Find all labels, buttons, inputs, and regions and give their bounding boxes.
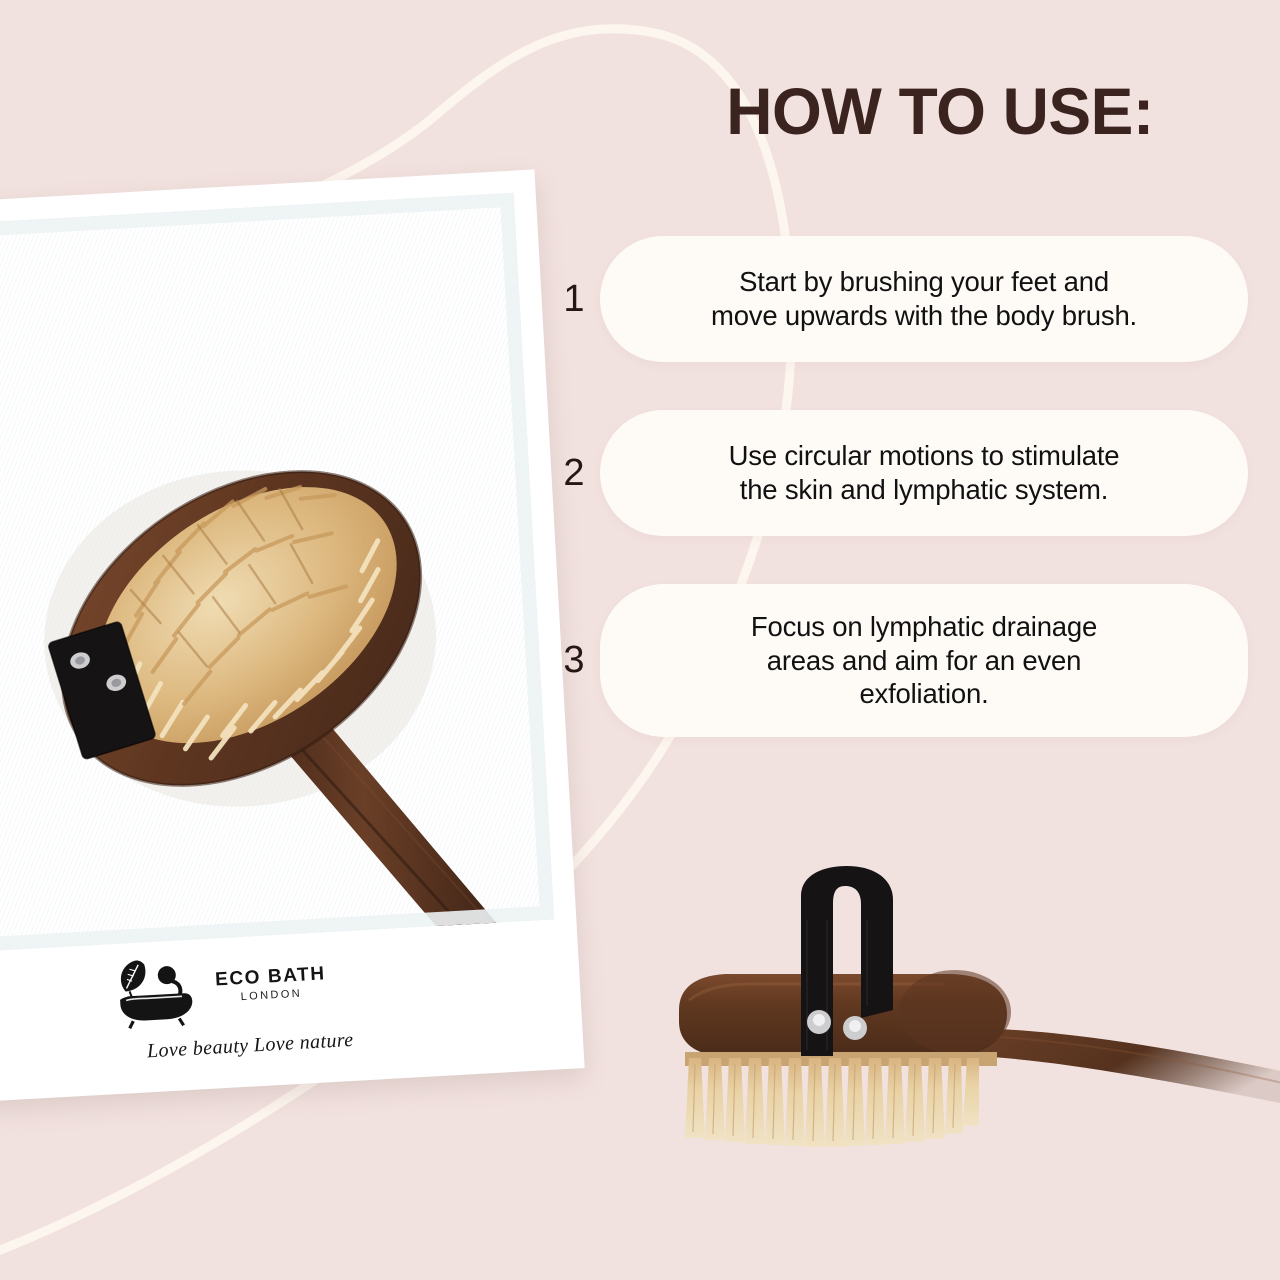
step-card[interactable]: Use circular motions to stimulate the sk… <box>600 410 1248 536</box>
list-item: 3 Focus on lymphatic drainage areas and … <box>548 584 1248 737</box>
step-text: Focus on lymphatic drainage areas and ai… <box>751 610 1097 711</box>
step-line: Use circular motions to stimulate <box>729 439 1120 473</box>
step-number: 2 <box>548 454 600 492</box>
steps-list: 1 Start by brushing your feet and move u… <box>548 236 1248 785</box>
list-item: 2 Use circular motions to stimulate the … <box>548 410 1248 536</box>
brand-name: ECO BATH <box>215 964 327 989</box>
step-text: Use circular motions to stimulate the sk… <box>729 439 1120 506</box>
infographic-canvas: ECO BATH LONDON Love beauty Love nature … <box>0 0 1280 1280</box>
step-line: move upwards with the body brush. <box>711 299 1137 333</box>
step-line: exfoliation. <box>751 677 1097 711</box>
step-line: areas and aim for an even <box>751 644 1097 678</box>
photo-inner-edge <box>0 193 554 952</box>
body-brush-side-image <box>655 860 1280 1200</box>
step-line: Focus on lymphatic drainage <box>751 610 1097 644</box>
brand-logo: ECO BATH LONDON Love beauty Love nature <box>108 937 454 1076</box>
polaroid-photo <box>0 193 554 952</box>
bathtub-leaf-icon <box>108 951 208 1030</box>
polaroid-card: ECO BATH LONDON Love beauty Love nature <box>0 169 585 1102</box>
step-number: 1 <box>548 280 600 318</box>
step-number: 3 <box>548 641 600 679</box>
step-card[interactable]: Focus on lymphatic drainage areas and ai… <box>600 584 1248 737</box>
brand-location: LONDON <box>240 989 302 1003</box>
step-line: Start by brushing your feet and <box>711 265 1137 299</box>
page-title: HOW TO USE: <box>668 78 1211 144</box>
brand-tagline: Love beauty Love nature <box>146 1023 453 1063</box>
step-text: Start by brushing your feet and move upw… <box>711 265 1137 332</box>
list-item: 1 Start by brushing your feet and move u… <box>548 236 1248 362</box>
step-line: the skin and lymphatic system. <box>729 473 1120 507</box>
step-card[interactable]: Start by brushing your feet and move upw… <box>600 236 1248 362</box>
